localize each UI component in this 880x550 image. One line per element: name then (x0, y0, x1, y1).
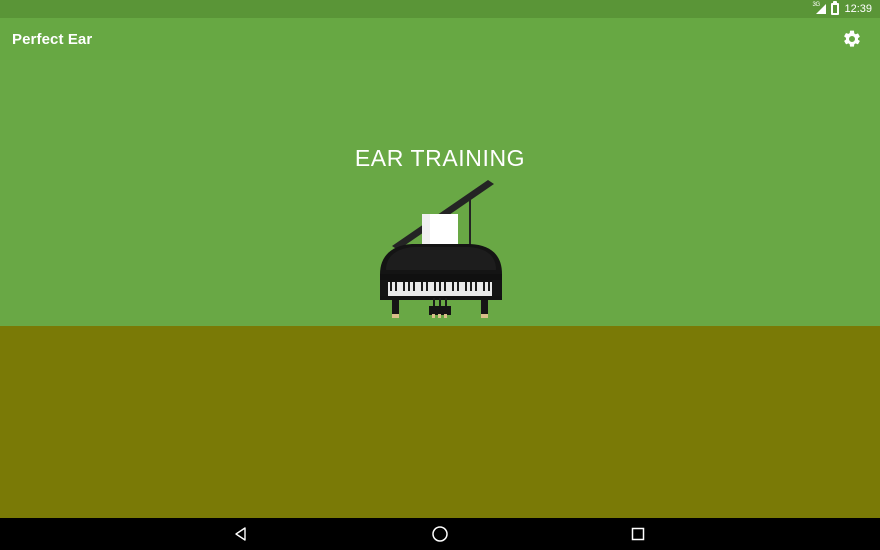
signal-3g-label: 3G (812, 2, 819, 8)
app-title: Perfect Ear (12, 31, 92, 48)
signal-3g-icon: 3G (813, 3, 826, 15)
home-circle-icon[interactable] (425, 519, 455, 549)
android-nav-bar (0, 518, 880, 550)
status-bar-clock: 12:39 (844, 3, 872, 15)
gear-icon[interactable] (838, 25, 866, 53)
app-screen: 3G 12:39 Perfect Ear EAR TRAINING (0, 0, 880, 550)
card-title-ear-training: EAR TRAINING (0, 145, 880, 172)
grand-piano-illustration (370, 178, 510, 323)
app-bar: Perfect Ear (0, 18, 880, 60)
card-rhythm-exercises[interactable]: RHYTHM EXERCISES (0, 326, 880, 518)
status-bar: 3G 12:39 (0, 0, 880, 18)
card-ear-training[interactable]: EAR TRAINING (0, 60, 880, 326)
battery-icon (831, 3, 839, 15)
status-bar-icons: 3G 12:39 (813, 3, 872, 15)
recents-square-icon[interactable] (623, 519, 653, 549)
back-triangle-icon[interactable] (227, 519, 257, 549)
